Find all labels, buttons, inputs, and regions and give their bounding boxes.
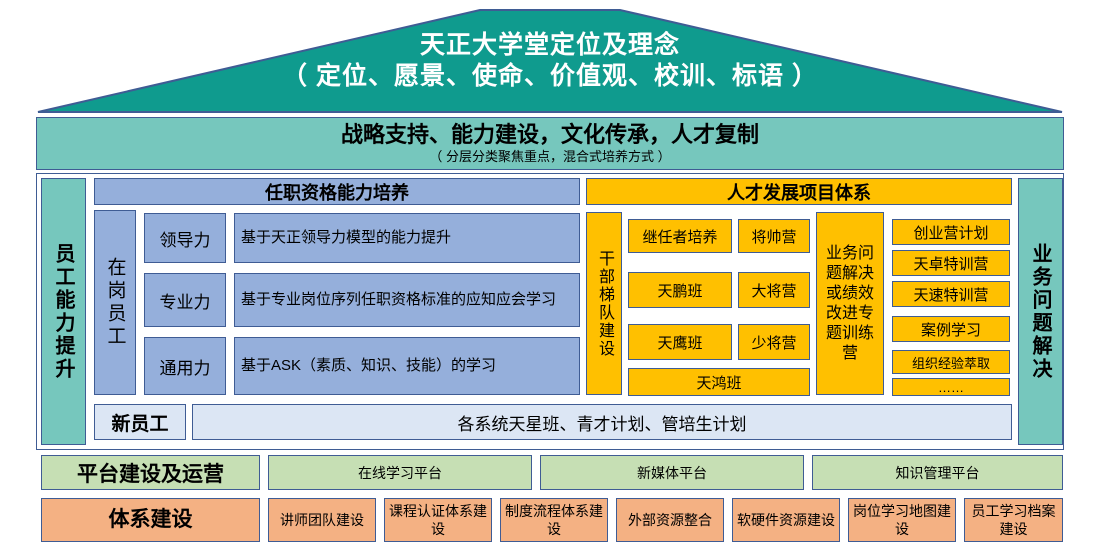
platform-item-knowledge-mgmt: 知识管理平台 (812, 455, 1063, 490)
strategy-band-main: 战略支持、能力建设，文化传承，人才复制 (341, 122, 759, 148)
capability-desc-professional: 基于专业岗位序列任职资格标准的应知应会学习 (234, 273, 580, 327)
cadre-item-tianpeng: 天鹏班 (628, 272, 732, 308)
system-item-external-resource: 外部资源整合 (616, 498, 724, 542)
capability-desc-general: 基于ASK（素质、知识、技能）的学习 (234, 337, 580, 395)
qualification-header: 任职资格能力培养 (94, 178, 580, 205)
new-employee-label: 新员工 (94, 404, 186, 440)
cadre-group-label: 干部梯队建设 (586, 212, 622, 395)
cadre-item-major-general-camp: 大将营 (738, 272, 810, 308)
biz-item-more: …… (892, 378, 1010, 396)
pillar-employee-capability: 员工能力提升 (41, 178, 86, 445)
system-item-job-learning-map: 岗位学习地图建设 (848, 498, 956, 542)
platform-item-online-learning: 在线学习平台 (268, 455, 532, 490)
capability-cap-professional: 专业力 (144, 273, 226, 327)
new-employee-desc: 各系统天星班、青才计划、管培生计划 (192, 404, 1012, 440)
system-item-process-system: 制度流程体系建设 (500, 498, 608, 542)
system-title: 体系建设 (41, 498, 260, 542)
system-item-trainer-team: 讲师团队建设 (268, 498, 376, 542)
cadre-item-minor-general-camp: 少将营 (738, 324, 810, 360)
biz-item-tianzhuo-camp: 天卓特训营 (892, 250, 1010, 276)
platform-title: 平台建设及运营 (41, 455, 260, 490)
roof-polygon-svg (36, 8, 1064, 114)
capability-desc-leadership: 基于天正领导力模型的能力提升 (234, 213, 580, 263)
strategy-band: 战略支持、能力建设，文化传承，人才复制 （ 分层分类聚焦重点，混合式培养方式 ） (36, 117, 1064, 170)
cadre-item-tianying: 天鹰班 (628, 324, 732, 360)
biz-item-startup-camp: 创业营计划 (892, 219, 1010, 245)
system-item-hardware-software: 软硬件资源建设 (732, 498, 840, 542)
platform-item-new-media: 新媒体平台 (540, 455, 804, 490)
strategy-band-sub: （ 分层分类聚焦重点，混合式培养方式 ） (429, 148, 670, 166)
biz-item-case-study: 案例学习 (892, 316, 1010, 342)
system-item-course-certification: 课程认证体系建设 (384, 498, 492, 542)
roof-shape (36, 8, 1064, 114)
qualification-group-label: 在岗员工 (94, 210, 136, 395)
pillar-business-problem: 业务问题解决 (1018, 178, 1063, 445)
cadre-item-successor: 继任者培养 (628, 219, 732, 253)
cadre-item-tianhong: 天鸿班 (628, 368, 810, 396)
talent-header: 人才发展项目体系 (586, 178, 1012, 205)
biz-item-experience-extraction: 组织经验萃取 (892, 350, 1010, 374)
business-training-label: 业务问题解决或绩效改进专题训练营 (816, 212, 884, 395)
capability-cap-leadership: 领导力 (144, 213, 226, 263)
architecture-diagram: 天正大学堂定位及理念 （ 定位、愿景、使命、价值观、校训、标语 ） 战略支持、能… (0, 0, 1114, 551)
biz-item-tiansu-camp: 天速特训营 (892, 281, 1010, 307)
capability-cap-general: 通用力 (144, 337, 226, 395)
system-item-learning-record: 员工学习档案建设 (964, 498, 1063, 542)
cadre-item-general-camp: 将帅营 (738, 219, 810, 253)
